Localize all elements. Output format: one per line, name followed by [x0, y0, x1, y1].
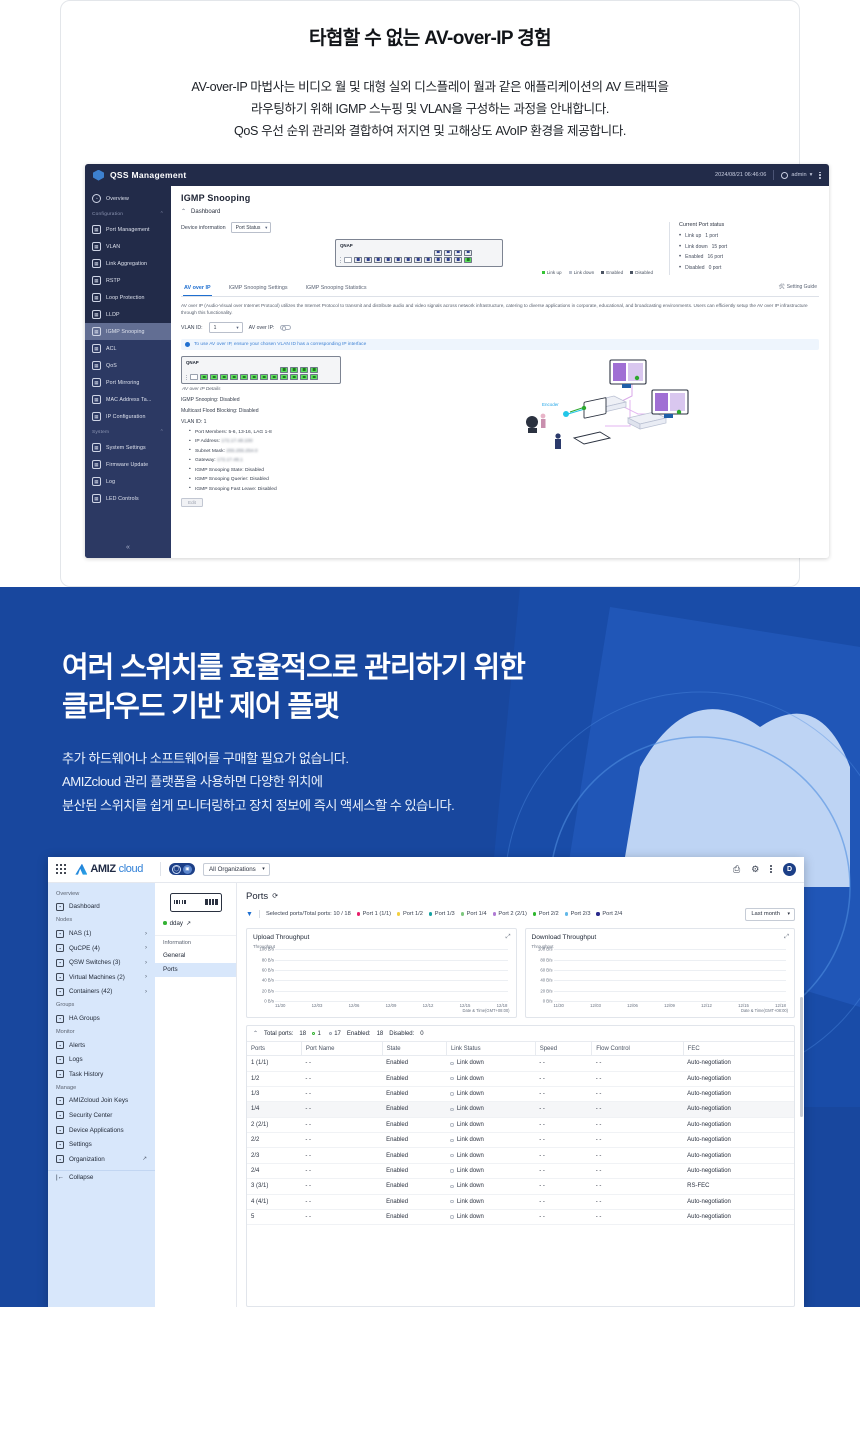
user-icon — [781, 172, 788, 179]
gridline — [554, 970, 787, 971]
table-row[interactable]: 1 (1/1)- -EnabledLink down- -- -Auto-neg… — [247, 1056, 794, 1071]
sidebar-item-containers-42[interactable]: ▪Containers (42)› — [48, 985, 155, 1000]
port-pair[interactable] — [220, 374, 228, 380]
status-label: Link down — [685, 244, 708, 250]
device-name-row[interactable]: dday ↗ — [155, 920, 236, 935]
cell-flow-control: - - — [592, 1133, 683, 1148]
legend-swatch — [533, 912, 536, 915]
detail-label: IP Address: — [195, 439, 220, 444]
cell-state: Enabled — [382, 1102, 446, 1117]
cell-link-status: Link down — [446, 1209, 535, 1224]
sidebar-collapse-button[interactable]: « — [85, 538, 171, 558]
table-row[interactable]: 1/2- -EnabledLink down- -- -Auto-negotia… — [247, 1071, 794, 1086]
dashboard-accordion[interactable]: ⌃ Dashboard — [181, 208, 819, 215]
ha-icon: ▪ — [56, 1015, 64, 1023]
time-range-select[interactable]: Last month — [745, 908, 795, 921]
link-status-icon — [450, 1169, 453, 1172]
device-nav-general[interactable]: General — [155, 949, 236, 963]
sidebar-item-ip-configuration[interactable]: ▦IP Configuration — [85, 408, 171, 425]
ports-main-panel: Ports ⟳ ▼ Selected ports/Total ports: 10… — [237, 883, 804, 1307]
sidebar-item-label: Alerts — [69, 1042, 85, 1049]
column-header[interactable]: Ports — [247, 1042, 301, 1056]
cell-speed: - - — [535, 1117, 591, 1132]
detail-label: IGMP Snooping Fast Leave: — [195, 487, 256, 492]
switch-port[interactable] — [424, 257, 432, 263]
switch-port[interactable] — [210, 374, 218, 380]
amizcloud-logo[interactable]: AMIZ cloud — [75, 863, 143, 875]
igmp-icon: ▦ — [92, 327, 101, 336]
switch-port[interactable] — [300, 367, 308, 373]
disabled-value: 0 — [420, 1031, 423, 1037]
switch-port[interactable] — [414, 257, 422, 263]
sidebar-item-label: NAS (1) — [69, 930, 91, 937]
column-header[interactable]: FEC — [683, 1042, 794, 1056]
status-label: Enabled — [685, 254, 703, 260]
chart-card: Download Throughput⤢Throughput100 B/s80 … — [525, 928, 796, 1019]
legend-swatch — [565, 912, 568, 915]
collapse-icon: |← — [56, 1174, 64, 1181]
sidebar-caption-overview: Overview — [48, 888, 155, 900]
sidebar-item-log[interactable]: ▦Log — [85, 473, 171, 490]
sidebar-item-label: QoS — [106, 363, 117, 369]
legend-swatch — [542, 271, 545, 274]
cell-port-name: - - — [301, 1102, 382, 1117]
sidebar-item-system-settings[interactable]: ▦System Settings — [85, 439, 171, 456]
table-row[interactable]: 1/4- -EnabledLink down- -- -Auto-negotia… — [247, 1102, 794, 1117]
detail-value: 1 — [204, 419, 207, 425]
desc-line: 라우팅하기 위해 IGMP 스누핑 및 VLAN을 구성하는 과정을 안내합니다… — [85, 98, 775, 120]
switch-port[interactable] — [290, 374, 298, 380]
cell-link-status: Link down — [446, 1163, 535, 1178]
switch-port[interactable] — [434, 250, 442, 256]
sidebar-item-label: Log — [106, 479, 115, 485]
sidebar-item-qos[interactable]: ▦QoS — [85, 357, 171, 374]
sidebar-item-label: QSW Switches (3) — [69, 959, 120, 966]
switch-port[interactable] — [290, 367, 298, 373]
tab-av-over-ip[interactable]: AV over IP — [183, 281, 212, 296]
chevron-up-icon: ⌃ — [160, 429, 164, 435]
page-title: IGMP Snooping — [171, 186, 829, 208]
sidebar-item-alerts[interactable]: ▪Alerts — [48, 1038, 155, 1053]
page-title: Ports — [246, 891, 268, 902]
cell-link-status: Link down — [446, 1117, 535, 1132]
switch-port[interactable] — [310, 374, 318, 380]
y-tick-label: 100 B/s — [532, 947, 553, 952]
switch-port[interactable] — [374, 257, 382, 263]
sidebar-item-link-aggregation[interactable]: ▦Link Aggregation — [85, 255, 171, 272]
sidebar-item-loop-protection[interactable]: ▦Loop Protection — [85, 289, 171, 306]
switch-port[interactable] — [200, 374, 208, 380]
port-pair[interactable] — [364, 257, 372, 263]
divider — [259, 910, 260, 918]
port-pair[interactable] — [250, 374, 258, 380]
port-pair[interactable] — [454, 250, 462, 263]
sidebar-item-igmp-snooping[interactable]: ▦IGMP Snooping — [85, 323, 171, 340]
switch-port[interactable] — [454, 257, 462, 263]
sidebar-item-label: VLAN — [106, 244, 120, 250]
vlan-id-select[interactable]: 1 — [209, 322, 243, 333]
sidebar-item-label: Loop Protection — [106, 295, 145, 301]
port-pair[interactable] — [354, 257, 362, 263]
cell-speed: - - — [535, 1102, 591, 1117]
chart-card: Upload Throughput⤢Throughput100 B/s80 B/… — [246, 928, 517, 1019]
status-value: 15 port — [712, 244, 728, 250]
sidebar-item-virtual-machines-2[interactable]: ▪Virtual Machines (2)› — [48, 970, 155, 985]
expand-icon[interactable]: ⤢ — [506, 934, 511, 941]
status-leds — [340, 257, 341, 262]
table-row[interactable]: 2/4- -EnabledLink down- -- -Auto-negotia… — [247, 1163, 794, 1178]
sidebar-item-label: IP Configuration — [106, 414, 146, 420]
port-pair[interactable] — [210, 374, 218, 380]
sidebar-item-logs[interactable]: ▪Logs — [48, 1052, 155, 1067]
av-over-ip-toggle[interactable] — [280, 325, 291, 331]
sidebar-group-configuration[interactable]: Configuration ⌃ — [85, 207, 171, 221]
port-pair[interactable] — [270, 374, 278, 380]
gridline — [275, 980, 508, 981]
switch-port[interactable] — [354, 257, 362, 263]
switch-port[interactable] — [260, 374, 268, 380]
cell-speed: - - — [535, 1056, 591, 1071]
org-icon: ▣ — [183, 865, 192, 874]
desc-line: AV-over-IP 마법사는 비디오 월 및 대형 실외 디스플레이 월과 같… — [85, 76, 775, 98]
ports-table: PortsPort NameStateLink StatusSpeedFlow … — [247, 1041, 794, 1225]
kebab-menu-icon[interactable] — [770, 865, 772, 873]
port-pair[interactable] — [424, 257, 432, 263]
legend-label: Port 1 (1/1) — [363, 911, 391, 917]
sidebar-collapse-button[interactable]: |← Collapse — [48, 1170, 155, 1185]
cell-speed: - - — [535, 1133, 591, 1148]
port-pair[interactable] — [230, 374, 238, 380]
link-status-icon — [450, 1062, 453, 1065]
console-port — [190, 374, 198, 380]
cell-flow-control: - - — [592, 1209, 683, 1224]
cell-flow-control: - - — [592, 1086, 683, 1101]
firmware-icon: ▦ — [92, 460, 101, 469]
ports-table-panel: ⌃ Total ports: 18 1 17 — [246, 1025, 795, 1307]
column-header[interactable]: State — [382, 1042, 446, 1056]
table-row[interactable]: 1/3- -EnabledLink down- -- -Auto-negotia… — [247, 1086, 794, 1101]
column-header[interactable]: Port Name — [301, 1042, 382, 1056]
gear-icon[interactable]: ⚙ — [751, 864, 759, 875]
link-status-icon — [450, 1139, 453, 1142]
cell-port: 2/3 — [247, 1148, 301, 1163]
sidebar-item-rstp[interactable]: ▦RSTP — [85, 272, 171, 289]
switch-port[interactable] — [404, 257, 412, 263]
switch-port[interactable] — [300, 374, 308, 380]
app-grid-icon[interactable] — [56, 864, 66, 874]
sidebar-item-ha-groups[interactable]: ▪HA Groups — [48, 1011, 155, 1026]
switch-icon: ▪ — [56, 959, 64, 967]
sidebar-item-mac-address-ta[interactable]: ▦MAC Address Ta... — [85, 391, 171, 408]
chevron-up-icon[interactable]: ⌃ — [253, 1030, 258, 1037]
sidebar-group-label: System — [92, 430, 109, 435]
account-pill[interactable]: ◯ ▣ — [169, 863, 195, 875]
cell-speed: - - — [535, 1194, 591, 1209]
log-icon: ▦ — [92, 477, 101, 486]
port-legend-item[interactable]: Port 2/2 — [533, 911, 559, 917]
tab-igmp-snooping-settings[interactable]: IGMP Snooping Settings — [228, 281, 289, 296]
cell-fec: Auto-negotiation — [683, 1071, 794, 1086]
switch-port[interactable] — [394, 257, 402, 263]
port-pair[interactable] — [374, 257, 382, 263]
status-value: 0 port — [709, 265, 722, 271]
sidebar-item-qsw-switches-3[interactable]: ▪QSW Switches (3)› — [48, 955, 155, 970]
switch-port[interactable] — [444, 257, 452, 263]
cell-port-name: - - — [301, 1179, 382, 1194]
cell-port-name: - - — [301, 1056, 382, 1071]
ports-title-row: Ports ⟳ — [246, 891, 795, 902]
detail-line: IGMP Snooping: Disabled — [181, 397, 381, 403]
switch-port[interactable] — [364, 257, 372, 263]
av-over-ip-paragraph: AV over IP (Audio-Visual over Internet P… — [181, 302, 819, 316]
x-tick-label: 12/03 — [312, 1003, 323, 1008]
edit-button[interactable]: Edit — [181, 498, 203, 507]
sidebar-caption-groups: Groups — [48, 999, 155, 1011]
sidebar-item-settings[interactable]: ▪Settings — [48, 1137, 155, 1152]
information-caption: Information — [155, 935, 236, 949]
cell-link-status: Link down — [446, 1179, 535, 1194]
column-header[interactable]: Speed — [535, 1042, 591, 1056]
filter-icon[interactable]: ▼ — [246, 911, 253, 918]
legend-item: Enabled — [601, 270, 623, 275]
link-status-label: Link down — [457, 1199, 484, 1205]
cell-state: Enabled — [382, 1148, 446, 1163]
lldp-icon: ▦ — [92, 310, 101, 319]
port-pair[interactable] — [384, 257, 392, 263]
cell-state: Enabled — [382, 1071, 446, 1086]
sidebar-item-label: AMIZcloud Join Keys — [69, 1097, 128, 1104]
legend-label: Port 2 (2/1) — [498, 911, 526, 917]
port-legend-item[interactable]: Port 2/3 — [565, 911, 591, 917]
sidebar-item-port-mirroring[interactable]: ▦Port Mirroring — [85, 374, 171, 391]
sidebar-item-security-center[interactable]: ▪Security Center — [48, 1108, 155, 1123]
refresh-icon[interactable]: ⟳ — [272, 892, 278, 900]
port-legend-item[interactable]: Port 1/4 — [461, 911, 487, 917]
switch-port[interactable] — [220, 374, 228, 380]
logo-text-secondary: cloud — [119, 863, 143, 875]
port-pair[interactable] — [310, 367, 318, 380]
switch-port[interactable] — [464, 250, 472, 256]
port-pair[interactable] — [464, 250, 472, 263]
chart-plot-area: 100 B/s80 B/s60 B/s40 B/s20 B/s0 B/s — [253, 949, 510, 1001]
port-pair[interactable] — [260, 374, 268, 380]
av-over-ip-card: 타협할 수 없는 AV-over-IP 경험 AV-over-IP 마법사는 비… — [60, 0, 800, 587]
port-pair[interactable] — [414, 257, 422, 263]
kebab-menu-icon[interactable] — [819, 172, 821, 179]
port-status-row: Disabled0 port — [679, 265, 819, 271]
chevron-right-icon: › — [145, 974, 147, 980]
port-legend-item[interactable]: Port 2/4 — [596, 911, 622, 917]
filter-summary: Selected ports/Total ports: 10 / 18 — [266, 911, 351, 917]
port-legend-item[interactable]: Port 1 (1/1) — [357, 911, 391, 917]
switch-port[interactable] — [444, 250, 452, 256]
table-row[interactable]: 3 (3/1)- -EnabledLink down- -- -RS-FEC — [247, 1179, 794, 1194]
device-information-select[interactable]: Port Status — [231, 222, 272, 233]
port-pair[interactable] — [444, 250, 452, 263]
status-label: Link up — [685, 233, 701, 239]
amizcloud-header: AMIZ cloud ◯ ▣ All Organizations ⎙ ⚙ D — [48, 857, 804, 883]
expand-icon[interactable]: ⤢ — [784, 934, 789, 941]
sidebar-item-port-management[interactable]: ▦Port Management — [85, 221, 171, 238]
switch-port[interactable] — [280, 374, 288, 380]
x-tick-label: 12/18 — [497, 1003, 508, 1008]
legend-swatch — [596, 912, 599, 915]
sidebar-item-organization[interactable]: ▪Organization↗ — [48, 1152, 155, 1167]
detail-value: Disabled — [245, 468, 264, 473]
link-status-icon — [450, 1123, 453, 1126]
detail-label: IGMP Snooping Querier: — [195, 477, 248, 482]
port-pair[interactable] — [200, 374, 208, 380]
x-tick-label: 12/15 — [460, 1003, 471, 1008]
disabled-label: Disabled: — [389, 1031, 414, 1037]
sidebar-item-qucpe-4[interactable]: ▪QuCPE (4)› — [48, 941, 155, 956]
sidebar-item-led-controls[interactable]: ▦LED Controls — [85, 490, 171, 507]
sidebar-item-nas-1[interactable]: ▪NAS (1)› — [48, 926, 155, 941]
cell-fec: Auto-negotiation — [683, 1148, 794, 1163]
sidebar-item-firmware-update[interactable]: ▦Firmware Update — [85, 456, 171, 473]
switch-port[interactable] — [310, 367, 318, 373]
setting-guide-link[interactable]: 🛠 Setting Guide — [778, 281, 817, 296]
port-pair[interactable] — [394, 257, 402, 263]
cell-state: Enabled — [382, 1194, 446, 1209]
switch-port[interactable] — [270, 374, 278, 380]
table-row[interactable]: 5- -EnabledLink down- -- -Auto-negotiati… — [247, 1209, 794, 1224]
cell-link-status: Link down — [446, 1133, 535, 1148]
table-row[interactable]: 2/2- -EnabledLink down- -- -Auto-negotia… — [247, 1133, 794, 1148]
device-nav-ports[interactable]: Ports — [155, 963, 236, 977]
legend-label: Link down — [574, 270, 595, 275]
cell-speed: - - — [535, 1209, 591, 1224]
link-status-label: Link down — [457, 1183, 484, 1189]
switch-port[interactable] — [250, 374, 258, 380]
sidebar-item-lldp[interactable]: ▦LLDP — [85, 306, 171, 323]
setting-guide-label: Setting Guide — [787, 284, 817, 290]
x-tick-label: 12/18 — [775, 1003, 786, 1008]
nas-icon: ▪ — [56, 930, 64, 938]
port-pair[interactable] — [290, 367, 298, 380]
qss-user-menu[interactable]: admin ▾ — [781, 172, 812, 179]
sidebar-caption-nodes: Nodes — [48, 914, 155, 926]
sidebar-group-label: Configuration — [92, 212, 123, 217]
column-header[interactable]: Link Status — [446, 1042, 535, 1056]
switch-port[interactable] — [280, 367, 288, 373]
sidebar-item-acl[interactable]: ▦ACL — [85, 340, 171, 357]
sidebar-item-label: ACL — [106, 346, 117, 352]
legend-swatch — [601, 271, 604, 274]
x-axis-label: Date & Time(GMT+08:00) — [253, 1008, 510, 1013]
cell-port-name: - - — [301, 1133, 382, 1148]
cell-fec: Auto-negotiation — [683, 1086, 794, 1101]
svg-text:Encoder: Encoder — [542, 402, 559, 407]
legend-swatch — [630, 271, 633, 274]
port-pair[interactable] — [280, 367, 288, 380]
external-link-icon: ↗ — [142, 1156, 147, 1162]
container-icon: ▪ — [56, 988, 64, 996]
switch-port[interactable] — [434, 257, 442, 263]
sidebar-item-label: RSTP — [106, 278, 121, 284]
external-link-icon[interactable]: ↗ — [186, 920, 191, 927]
table-row[interactable]: 2/3- -EnabledLink down- -- -Auto-negotia… — [247, 1148, 794, 1163]
list-icon: ▦ — [92, 344, 101, 353]
sidebar-group-system[interactable]: System ⌃ — [85, 425, 171, 439]
sidebar-item-label: Device Applications — [69, 1127, 124, 1134]
dashboard-label: Dashboard — [191, 209, 220, 215]
tab-igmp-snooping-statistics[interactable]: IGMP Snooping Statistics — [305, 281, 368, 296]
switch-port[interactable] — [384, 257, 392, 263]
port-legend-item[interactable]: Port 1/2 — [397, 911, 423, 917]
sidebar-item-label: Logs — [69, 1056, 83, 1063]
y-tick-label: 60 B/s — [253, 967, 274, 972]
sidebar-item-overview[interactable]: ◔ Overview — [85, 190, 171, 207]
sidebar-item-label: Virtual Machines (2) — [69, 974, 125, 981]
link-status-icon — [450, 1077, 453, 1080]
avatar[interactable]: D — [783, 863, 796, 876]
port-pair[interactable] — [240, 374, 248, 380]
legend-label: Port 1/3 — [435, 911, 455, 917]
y-axis-label: Throughput — [532, 944, 789, 949]
chart-title: Download Throughput — [532, 934, 789, 941]
mirroring-icon: ▦ — [92, 378, 101, 387]
cell-fec: Auto-negotiation — [683, 1209, 794, 1224]
chevron-right-icon: › — [145, 945, 147, 951]
port-pair[interactable] — [300, 367, 308, 380]
cell-port: 4 (4/1) — [247, 1194, 301, 1209]
heading-line: 클라우드 기반 제어 플랫 — [62, 688, 860, 727]
sidebar-item-vlan[interactable]: ▦VLAN — [85, 238, 171, 255]
scrollbar[interactable] — [800, 997, 803, 1117]
cell-state: Enabled — [382, 1163, 446, 1178]
sidebar-item-amizcloud-join-keys[interactable]: ▪AMIZcloud Join Keys — [48, 1094, 155, 1109]
legend-swatch — [429, 912, 432, 915]
port-legend-item[interactable]: Port 1/3 — [429, 911, 455, 917]
table-row[interactable]: 4 (4/1)- -EnabledLink down- -- -Auto-neg… — [247, 1194, 794, 1209]
port-legend: Link upLink downEnabledDisabled — [181, 270, 657, 275]
organization-select[interactable]: All Organizations — [203, 863, 270, 876]
wrench-icon: 🛠 — [778, 284, 784, 290]
port-legend-item[interactable]: Port 2 (2/1) — [493, 911, 527, 917]
port-pair[interactable] — [404, 257, 412, 263]
cell-state: Enabled — [382, 1133, 446, 1148]
switch-port[interactable] — [240, 374, 248, 380]
legend-swatch — [493, 912, 496, 915]
topology-svg: Encoder — [391, 356, 819, 460]
switch-port[interactable] — [454, 250, 462, 256]
switch-port[interactable] — [464, 257, 472, 263]
sidebar-item-task-history[interactable]: ▪Task History — [48, 1067, 155, 1082]
overview-icon: ◔ — [92, 194, 101, 203]
switch-brand-label: QNAP — [340, 243, 498, 248]
table-row[interactable]: 2 (2/1)- -EnabledLink down- -- -Auto-neg… — [247, 1117, 794, 1132]
total-ports-value: 18 — [299, 1031, 306, 1037]
detail-value: Disabled — [250, 477, 269, 482]
sidebar-item-label: LED Controls — [106, 496, 139, 502]
qnap-logo-icon — [93, 170, 104, 181]
chevron-up-icon: ⌃ — [181, 208, 186, 215]
port-pair[interactable] — [434, 250, 442, 263]
section2-heading: 여러 스위치를 효율적으로 관리하기 위한 클라우드 기반 제어 플랫 — [62, 649, 860, 727]
vlan-id-label: VLAN ID: — [181, 325, 203, 331]
chevron-down-icon: ▾ — [810, 172, 813, 178]
collapse-label: Collapse — [69, 1174, 94, 1181]
sidebar-item-device-applications[interactable]: ▪Device Applications — [48, 1123, 155, 1138]
upload-icon[interactable]: ⎙ — [733, 864, 740, 875]
switch-port[interactable] — [230, 374, 238, 380]
sidebar-caption-manage: Manage — [48, 1082, 155, 1094]
column-header[interactable]: Flow Control — [592, 1042, 683, 1056]
console-port — [344, 257, 352, 263]
sidebar-item-dashboard[interactable]: ▪Dashboard — [48, 900, 155, 915]
x-axis: 11/3012/0312/0612/0912/1212/1512/18 — [253, 1003, 510, 1008]
